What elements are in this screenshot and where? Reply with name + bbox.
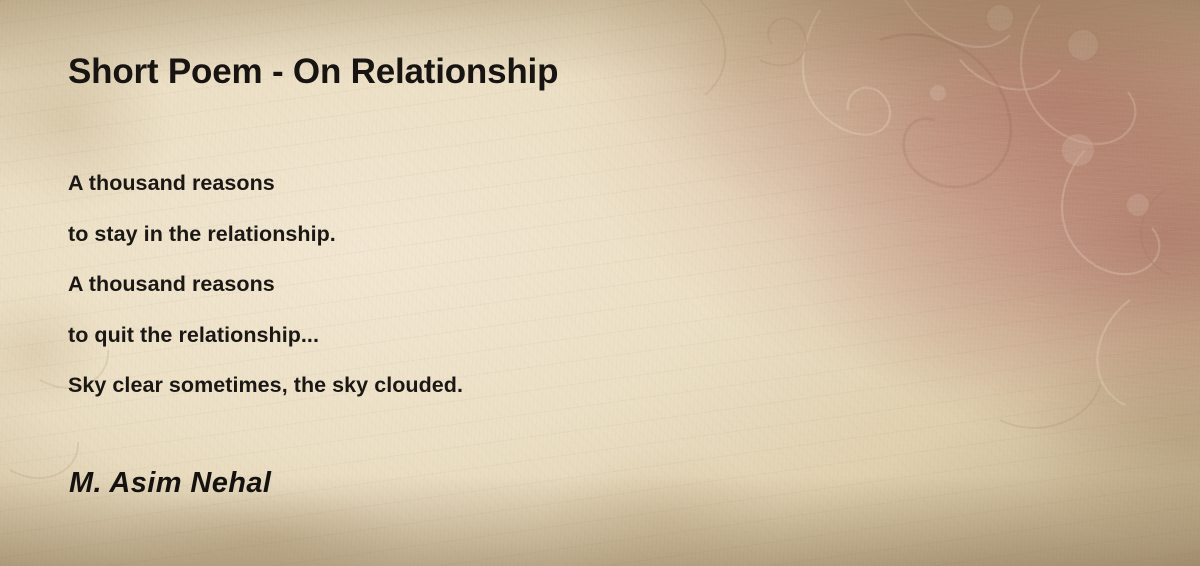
poem-content: Short Poem - On Relationship A thousand … <box>0 0 1200 566</box>
poem-line: A thousand reasons <box>68 259 463 310</box>
poem-line: to quit the relationship... <box>68 310 463 361</box>
poem-line: A thousand reasons <box>68 158 463 209</box>
poem-body: A thousand reasons to stay in the relati… <box>68 158 463 411</box>
poem-image-card: Short Poem - On Relationship A thousand … <box>0 0 1200 566</box>
page-title: Short Poem - On Relationship <box>68 52 558 92</box>
poem-author: M. Asim Nehal <box>69 467 271 500</box>
poem-line: to stay in the relationship. <box>68 209 463 260</box>
poem-line: Sky clear sometimes, the sky clouded. <box>68 360 463 411</box>
